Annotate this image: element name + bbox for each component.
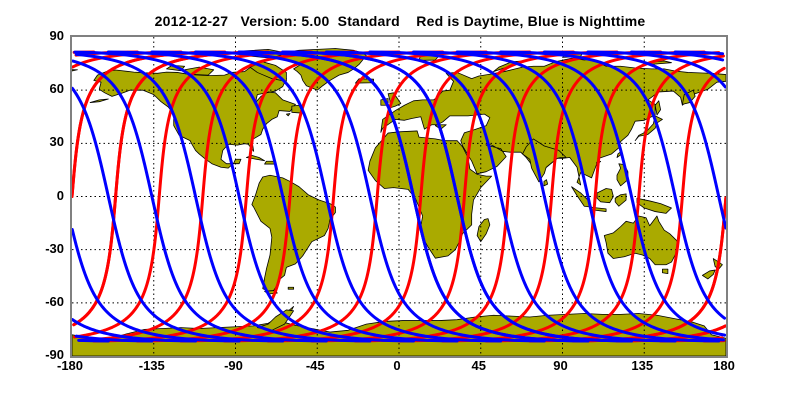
y-tick-label: 0 — [4, 189, 64, 202]
x-tick-label: -45 — [275, 359, 355, 372]
x-tick-label: 0 — [357, 359, 437, 372]
ground-track-figure: 2012-12-27 Version: 5.00 Standard Red is… — [0, 0, 800, 400]
x-tick-label: -135 — [112, 359, 192, 372]
x-tick-label: -90 — [194, 359, 274, 372]
x-tick-label: 45 — [439, 359, 519, 372]
x-tick-label: 135 — [602, 359, 682, 372]
x-tick-label: 180 — [684, 359, 764, 372]
y-tick-label: 90 — [4, 29, 64, 42]
y-tick-label: -30 — [4, 242, 64, 255]
x-tick-label: 90 — [521, 359, 601, 372]
x-axis-tick-labels: -180-135-90-4504590135180 — [0, 359, 800, 379]
landmass-tasmania — [662, 269, 667, 273]
landmass-falkland — [288, 287, 293, 289]
ground-track-1-12-0 — [79, 340, 109, 341]
y-tick-label: -60 — [4, 295, 64, 308]
y-tick-label: 60 — [4, 82, 64, 95]
y-tick-label: 30 — [4, 135, 64, 148]
x-tick-label: -180 — [30, 359, 110, 372]
world-map-with-ground-tracks — [72, 37, 726, 356]
plot-area — [70, 35, 728, 358]
page-title: 2012-12-27 Version: 5.00 Standard Red is… — [0, 13, 800, 29]
y-axis-tick-labels: 9060300-30-60-90 — [0, 0, 64, 400]
